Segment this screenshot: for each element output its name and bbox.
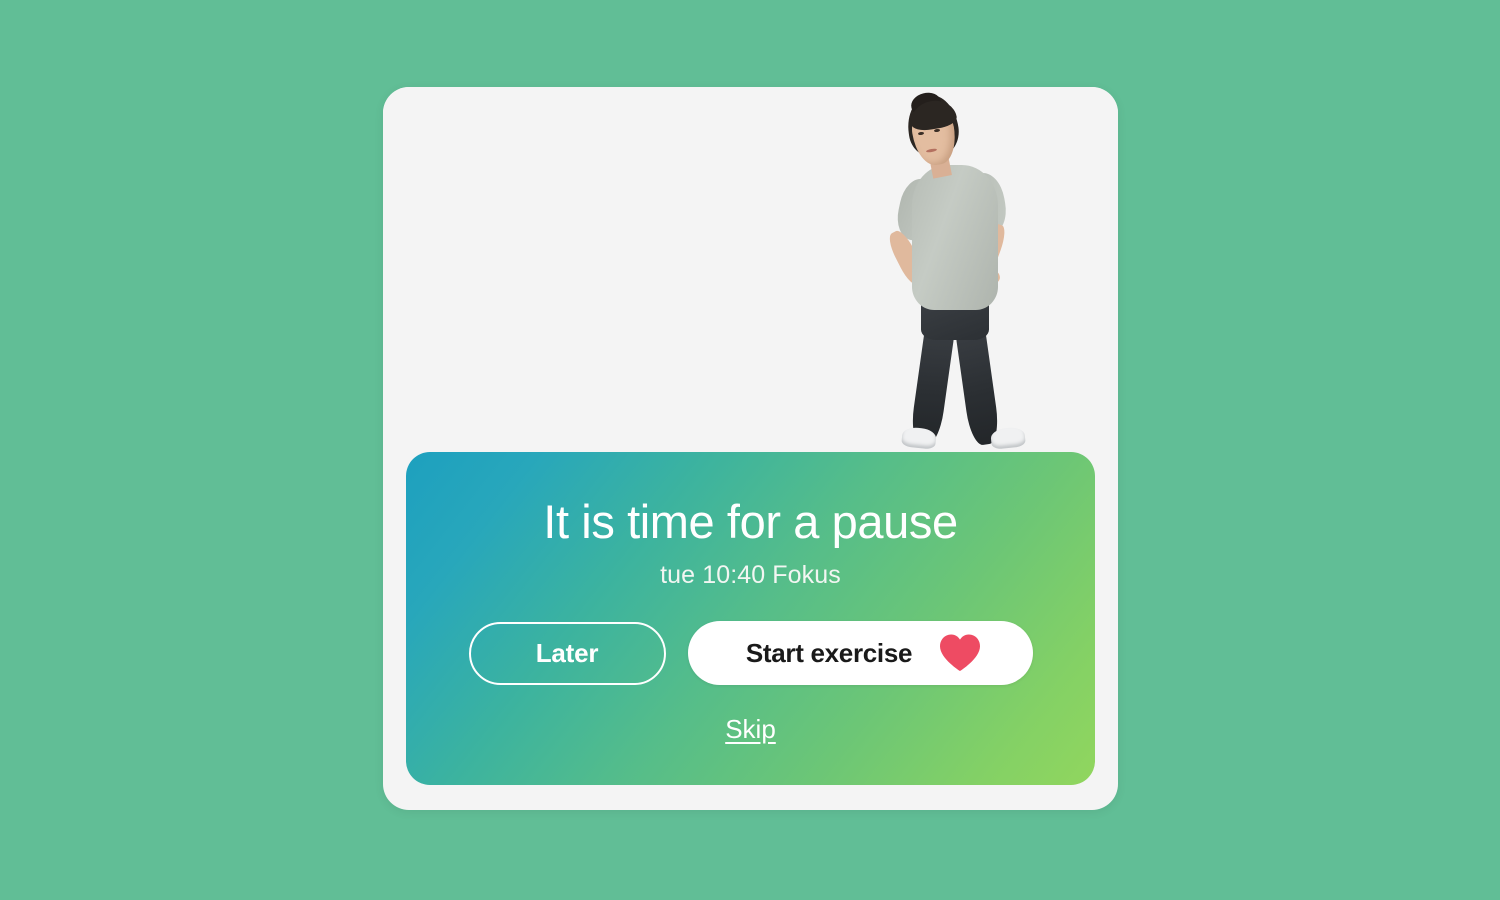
person-right-leg [955,325,1001,446]
heart-icon [938,633,982,673]
pause-reminder-card: It is time for a pause tue 10:40 Fokus L… [383,87,1118,810]
skip-link[interactable]: Skip [725,714,776,745]
notification-title: It is time for a pause [543,497,957,546]
later-button[interactable]: Later [469,622,666,685]
notification-panel: It is time for a pause tue 10:40 Fokus L… [406,452,1095,785]
action-row: Later Start exercise [469,621,1033,685]
notification-subtitle: tue 10:40 Fokus [660,561,841,590]
person-shirt [912,165,998,310]
exercise-person-illustration [891,87,1066,449]
later-button-label: Later [536,638,599,669]
start-exercise-button[interactable]: Start exercise [688,621,1033,685]
start-exercise-button-label: Start exercise [746,638,912,669]
illustration-area [383,87,1118,452]
